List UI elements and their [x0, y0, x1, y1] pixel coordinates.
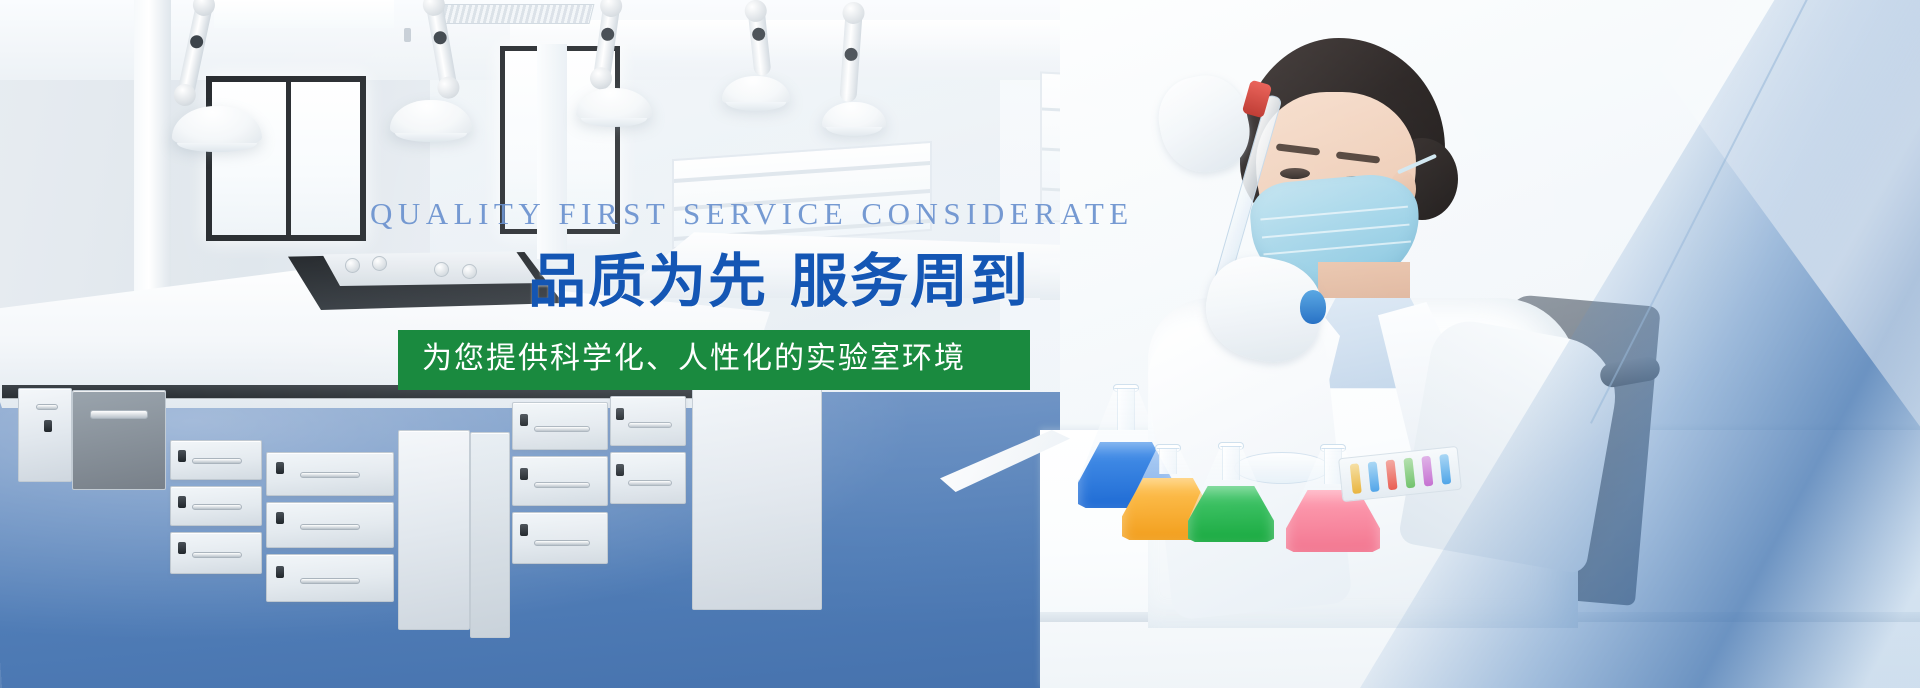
flask-green: [1188, 446, 1274, 542]
drawer: [610, 396, 686, 446]
drawer: [610, 452, 686, 504]
drawer-lock: [276, 512, 284, 524]
headline-part-1: 品质为先: [528, 249, 768, 314]
drawer: [512, 512, 608, 564]
drawer-handle: [192, 552, 242, 558]
service-knob-1: [345, 258, 360, 273]
drawer-lock: [520, 524, 528, 536]
cabinet-lock: [44, 420, 52, 432]
drawer-handle: [628, 480, 672, 486]
sprinkler-head: [404, 28, 411, 42]
drawer-lock: [616, 408, 624, 420]
drawer-handle: [534, 540, 590, 546]
drawer-handle: [300, 472, 360, 478]
banner-subtitle-bar: 为您提供科学化、人性化的实验室环境: [398, 330, 1030, 390]
headline-part-2: 服务周到: [790, 249, 1030, 314]
drawer-handle: [534, 426, 590, 432]
banner-headline: 品质为先服务周到: [370, 251, 1030, 314]
drawer-lock: [276, 566, 284, 578]
structural-pillar: [134, 0, 171, 330]
drawer-handle: [300, 524, 360, 530]
banner-english-tagline: QUALITY FIRST SERVICE CONSIDERATE: [370, 198, 1030, 229]
tall-cabinet-side: [470, 432, 510, 638]
drawer-lock: [178, 542, 186, 554]
window-left: [206, 76, 366, 241]
skylight: [214, 0, 394, 28]
cabinet-handle: [36, 404, 58, 410]
pipette-blue-liquid: [1300, 290, 1326, 324]
drawer-handle: [192, 458, 242, 464]
arm-right-sleeve: [1397, 315, 1624, 574]
drawer-lock: [520, 468, 528, 480]
drawer-handle: [534, 482, 590, 488]
drawer-lock: [178, 450, 186, 462]
tall-cabinet: [398, 430, 470, 630]
drawer-handle: [300, 578, 360, 584]
drawer-lock: [520, 414, 528, 426]
end-cabinet: [692, 370, 822, 610]
banner-copy-block: QUALITY FIRST SERVICE CONSIDERATE 品质为先服务…: [370, 198, 1030, 390]
cabinet-open-bay: [72, 390, 166, 490]
ceiling-vent-grille: [440, 4, 595, 24]
drawer-handle: [628, 422, 672, 428]
hero-banner: QUALITY FIRST SERVICE CONSIDERATE 品质为先服务…: [0, 0, 1920, 688]
eye-left: [1280, 168, 1310, 179]
cabinet-left-end: [18, 388, 72, 482]
drawer-handle: [192, 504, 242, 510]
fume-extraction-arm-5: [841, 6, 860, 103]
bay-handle: [90, 410, 148, 419]
drawer-lock: [276, 462, 284, 474]
drawer: [512, 456, 608, 506]
drawer-lock: [616, 464, 624, 476]
drawer-lock: [178, 496, 186, 508]
